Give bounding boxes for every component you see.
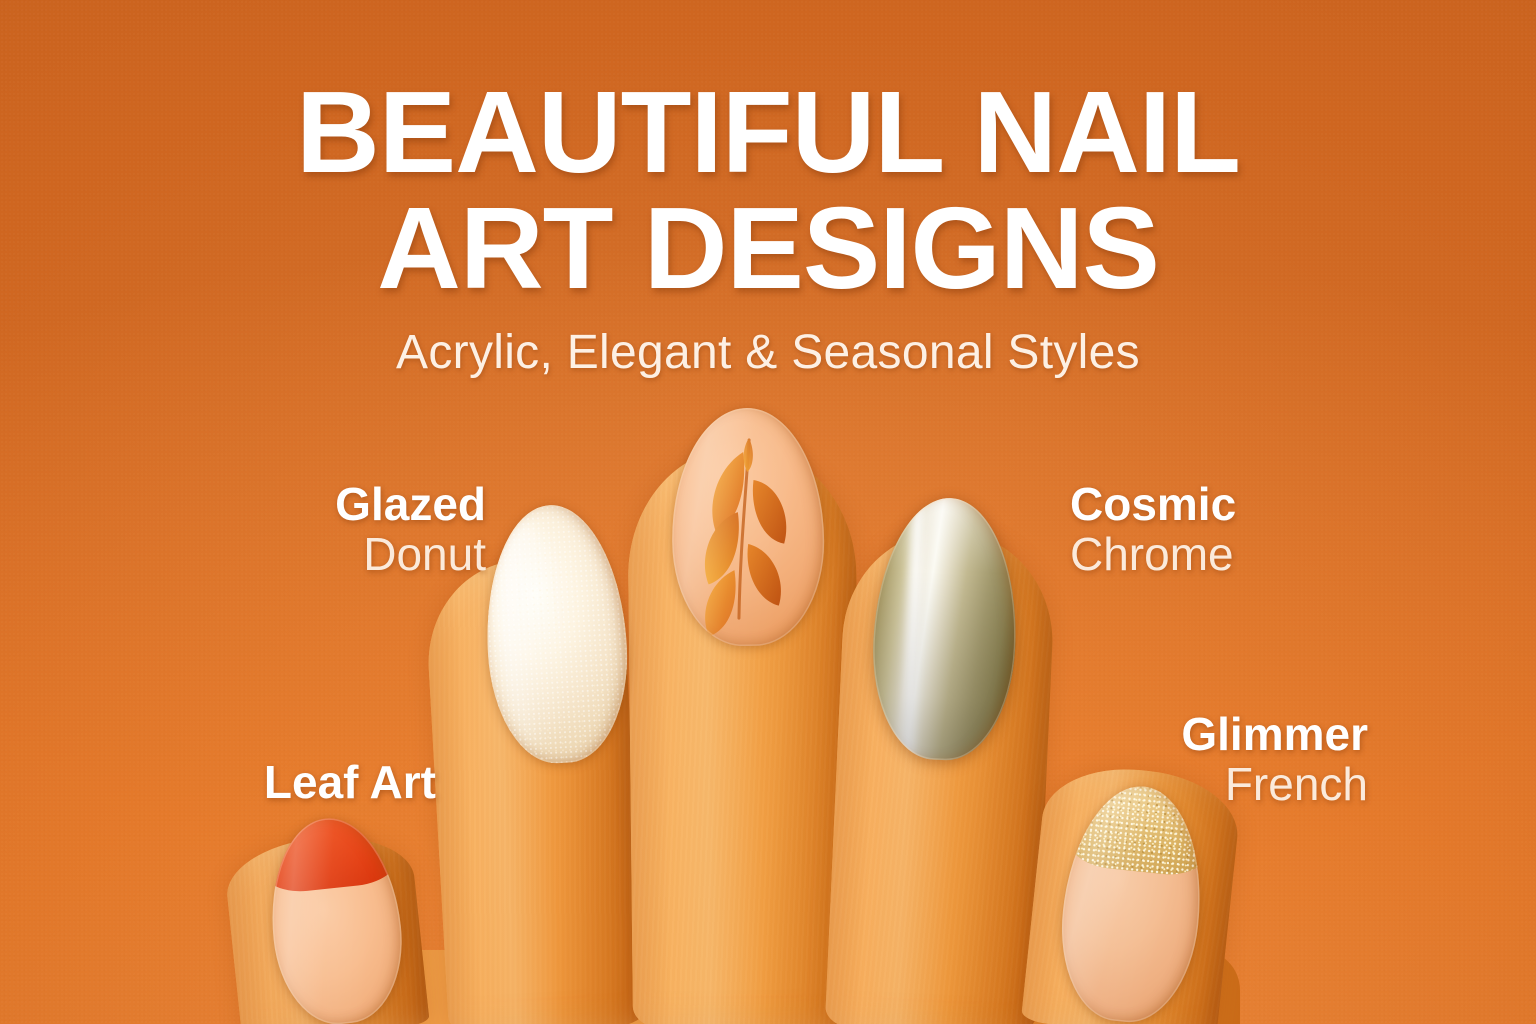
- label-line-2: Chrome: [1070, 530, 1236, 580]
- label-line-1: Glimmer: [1181, 710, 1368, 760]
- label-line-1: Glazed: [335, 480, 486, 530]
- label-line-2: French: [1181, 760, 1368, 810]
- label-glazed-donut: Glazed Donut: [335, 480, 486, 579]
- nail-cosmic-chrome: [868, 495, 1022, 763]
- red-french-tip: [262, 812, 407, 896]
- label-line-1: Leaf Art: [264, 758, 436, 808]
- nail-glazed-donut: [480, 501, 633, 766]
- nail-leaf-motif: [671, 407, 825, 647]
- chrome-sheen: [868, 495, 1022, 763]
- label-line-2: Donut: [335, 530, 486, 580]
- label-glimmer-french: Glimmer French: [1181, 710, 1368, 809]
- leaf-branch-icon: [671, 407, 825, 647]
- label-line-1: Cosmic: [1070, 480, 1236, 530]
- nail-art-poster: BEAUTIFUL NAIL ART DESIGNS Acrylic, Eleg…: [0, 0, 1536, 1024]
- page-title: BEAUTIFUL NAIL ART DESIGNS: [0, 74, 1536, 306]
- label-cosmic-chrome: Cosmic Chrome: [1070, 480, 1236, 579]
- page-subtitle: Acrylic, Elegant & Seasonal Styles: [0, 325, 1536, 380]
- label-leaf-art: Leaf Art: [264, 758, 436, 808]
